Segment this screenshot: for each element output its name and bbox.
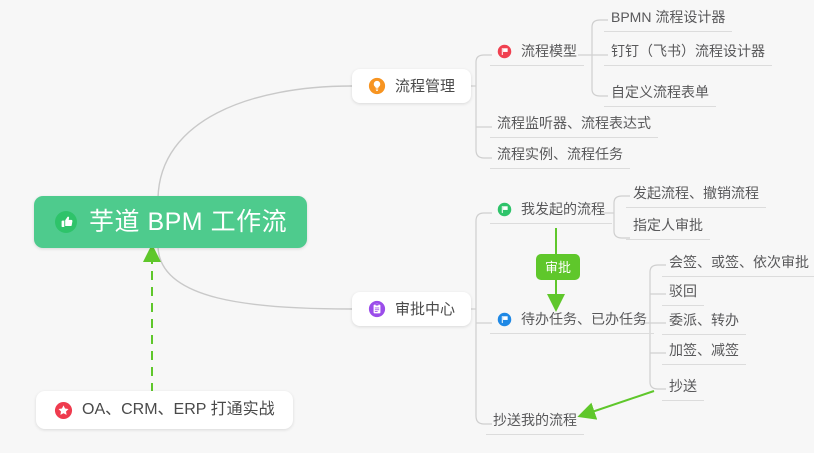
node-label-custom-process-form: 自定义流程表单 xyxy=(611,85,709,99)
lightbulb-icon xyxy=(368,77,386,95)
star-icon xyxy=(54,401,73,420)
flag-icon-green xyxy=(497,202,512,217)
node-label-start-cancel-process: 发起流程、撤销流程 xyxy=(633,186,759,200)
node-countersign[interactable]: 会签、或签、依次审批 xyxy=(662,253,814,277)
branch-label-process-management: 流程管理 xyxy=(395,79,455,94)
node-bpmn-designer[interactable]: BPMN 流程设计器 xyxy=(604,8,732,32)
node-label-listener-expression: 流程监听器、流程表达式 xyxy=(497,116,651,130)
node-label-bpmn-designer: BPMN 流程设计器 xyxy=(611,10,725,24)
node-label-process-model: 流程模型 xyxy=(521,44,577,58)
node-label-add-remove-sign: 加签、减签 xyxy=(669,343,739,357)
node-instance-task[interactable]: 流程实例、流程任务 xyxy=(490,145,630,169)
branch-node-process-management[interactable]: 流程管理 xyxy=(352,69,471,103)
node-label-assignee-approval: 指定人审批 xyxy=(633,218,703,232)
link-root-to-process-management xyxy=(158,86,352,198)
clipboard-icon xyxy=(368,300,386,318)
branch-node-approval-center[interactable]: 审批中心 xyxy=(352,292,471,326)
node-label-countersign: 会签、或签、依次审批 xyxy=(669,255,809,269)
node-cc-my-process[interactable]: 抄送我的流程 xyxy=(486,411,584,435)
link-root-to-approval-center xyxy=(158,247,352,309)
node-assignee-approval[interactable]: 指定人审批 xyxy=(626,216,710,240)
node-start-cancel-process[interactable]: 发起流程、撤销流程 xyxy=(626,184,766,208)
node-reject[interactable]: 驳回 xyxy=(662,282,704,306)
node-my-started-process[interactable]: 我发起的流程 xyxy=(490,200,612,224)
integration-card[interactable]: OA、CRM、ERP 打通实战 xyxy=(36,391,293,429)
node-label-cc-my-process: 抄送我的流程 xyxy=(493,413,577,427)
integration-card-label: OA、CRM、ERP 打通实战 xyxy=(82,402,275,418)
branch-label-approval-center: 审批中心 xyxy=(395,302,455,317)
annotation-chip-approval-label: 审批 xyxy=(545,261,571,274)
node-label-delegate-transfer: 委派、转办 xyxy=(669,313,739,327)
arrow-cc-to-cc-my-process xyxy=(583,391,654,415)
flag-icon-blue xyxy=(497,312,512,327)
thumbs-up-icon xyxy=(54,210,78,234)
node-add-remove-sign[interactable]: 加签、减签 xyxy=(662,341,746,365)
node-label-reject: 驳回 xyxy=(669,284,697,298)
node-process-model[interactable]: 流程模型 xyxy=(490,42,584,66)
mindmap-canvas: 芋道 BPM 工作流 流程管理 流程模型 BPMN 流程设计器 钉钉（飞书）流 xyxy=(0,0,814,453)
node-label-todo-done-task: 待办任务、已办任务 xyxy=(521,312,647,326)
node-dingtalk-feishu-designer[interactable]: 钉钉（飞书）流程设计器 xyxy=(604,42,772,66)
annotation-chip-approval: 审批 xyxy=(536,254,580,280)
node-listener-expression[interactable]: 流程监听器、流程表达式 xyxy=(490,114,658,138)
node-cc[interactable]: 抄送 xyxy=(662,377,704,401)
node-label-cc: 抄送 xyxy=(669,379,697,393)
node-custom-process-form[interactable]: 自定义流程表单 xyxy=(604,83,716,107)
flag-icon-red xyxy=(497,44,512,59)
node-todo-done-task[interactable]: 待办任务、已办任务 xyxy=(490,310,654,334)
node-label-dingtalk-feishu-designer: 钉钉（飞书）流程设计器 xyxy=(611,44,765,58)
root-node-label: 芋道 BPM 工作流 xyxy=(89,210,287,235)
root-node[interactable]: 芋道 BPM 工作流 xyxy=(34,196,307,248)
node-delegate-transfer[interactable]: 委派、转办 xyxy=(662,311,746,335)
node-label-my-started-process: 我发起的流程 xyxy=(521,202,605,216)
node-label-instance-task: 流程实例、流程任务 xyxy=(497,147,623,161)
